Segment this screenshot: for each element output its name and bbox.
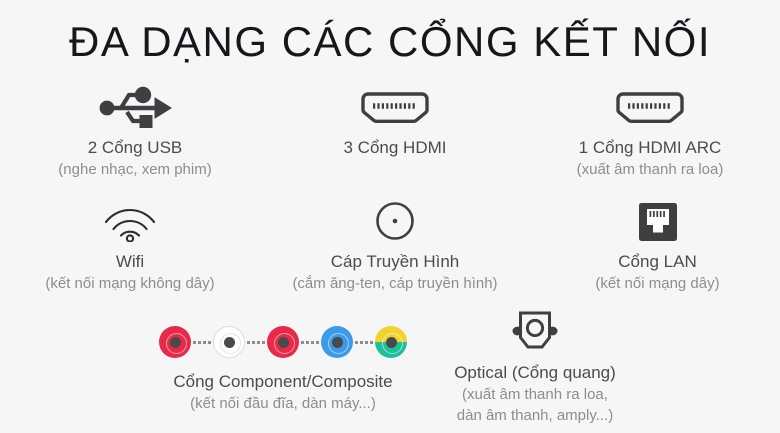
connectivity-infographic: ĐA DẠNG CÁC CỔNG KẾT NỐI 2 Cổng USB (ngh…	[0, 0, 780, 433]
hdmi-icon-wrap	[265, 84, 525, 128]
rca-core	[170, 337, 181, 348]
item-coax-label: Cáp Truyền Hình	[255, 250, 535, 273]
item-hdmi-arc-sublabel: (xuất âm thanh ra loa)	[520, 159, 780, 180]
rca-connectors-icon	[159, 326, 407, 358]
item-component-sublabel: (kết nối đầu đĩa, dàn máy...)	[108, 393, 458, 414]
item-usb-sublabel: (nghe nhạc, xem phim)	[5, 159, 265, 180]
rca-icon-wrap	[108, 318, 458, 358]
item-coax: Cáp Truyền Hình (cắm ăng-ten, cáp truyền…	[255, 198, 535, 294]
optical-toslink-icon	[509, 307, 561, 355]
item-wifi-sublabel: (kết nối mạng không dây)	[5, 273, 255, 294]
item-hdmi-arc-label: 1 Cổng HDMI ARC	[520, 136, 780, 159]
rca-dots	[299, 340, 321, 344]
item-component: Cổng Component/Composite (kết nối đầu đĩ…	[108, 318, 458, 414]
item-optical-sublabel-line2: dàn âm thanh, amply...)	[420, 405, 650, 426]
rca-core	[386, 337, 397, 348]
coax-icon-wrap	[255, 198, 535, 242]
usb-icon	[97, 84, 173, 128]
item-lan-sublabel: (kết nối mạng dây)	[535, 273, 780, 294]
rca-core	[224, 337, 235, 348]
rca-white	[213, 326, 245, 358]
rca-core	[332, 337, 343, 348]
rca-blue	[321, 326, 353, 358]
item-optical-sublabel-line1: (xuất âm thanh ra loa,	[420, 384, 650, 405]
item-usb: 2 Cổng USB (nghe nhạc, xem phim)	[5, 84, 265, 180]
lan-rj45-port-icon	[638, 202, 678, 242]
rca-core	[278, 337, 289, 348]
hdmi-port-icon	[356, 90, 434, 128]
rca-red-1	[159, 326, 191, 358]
item-lan-label: Cổng LAN	[535, 250, 780, 273]
item-wifi-label: Wifi	[5, 250, 255, 273]
item-hdmi: 3 Cổng HDMI	[265, 84, 525, 159]
coaxial-connector-icon	[374, 200, 416, 242]
wifi-icon-wrap	[5, 198, 255, 242]
item-hdmi-label: 3 Cổng HDMI	[265, 136, 525, 159]
item-optical: Optical (Cổng quang) (xuất âm thanh ra l…	[420, 305, 650, 426]
rca-dots	[353, 340, 375, 344]
item-coax-sublabel: (cắm ăng-ten, cáp truyền hình)	[255, 273, 535, 294]
hdmi-arc-icon-wrap	[520, 84, 780, 128]
lan-icon-wrap	[535, 198, 780, 242]
rca-dots	[191, 340, 213, 344]
item-optical-label: Optical (Cổng quang)	[420, 361, 650, 384]
hdmi-port-icon	[611, 90, 689, 128]
rca-yellow-green	[375, 326, 407, 358]
item-wifi: Wifi (kết nối mạng không dây)	[5, 198, 255, 294]
item-component-label: Cổng Component/Composite	[108, 370, 458, 393]
rca-red-2	[267, 326, 299, 358]
page-title: ĐA DẠNG CÁC CỔNG KẾT NỐI	[0, 16, 780, 68]
wifi-icon	[100, 200, 160, 242]
item-hdmi-arc: 1 Cổng HDMI ARC (xuất âm thanh ra loa)	[520, 84, 780, 180]
item-usb-label: 2 Cổng USB	[5, 136, 265, 159]
usb-icon-wrap	[5, 84, 265, 128]
optical-icon-wrap	[420, 305, 650, 355]
item-lan: Cổng LAN (kết nối mạng dây)	[535, 198, 780, 294]
rca-dots	[245, 340, 267, 344]
